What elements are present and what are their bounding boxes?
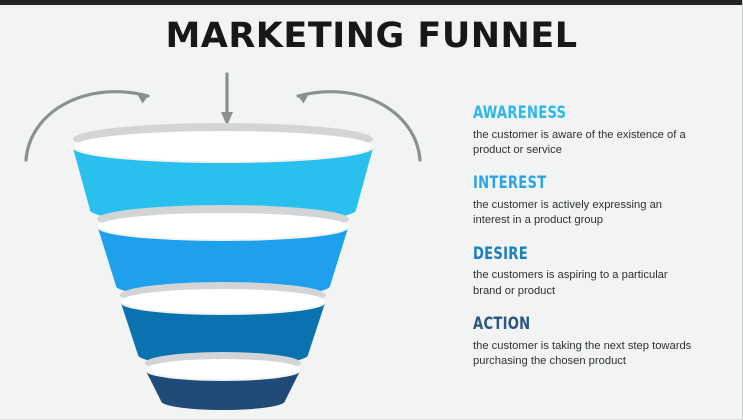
stage-title-action: ACTION [473, 315, 679, 335]
funnel-stage-list: AWARENESS the customer is aware of the e… [473, 104, 713, 370]
stage-description-desire: the customers is aspiring to a particula… [473, 268, 698, 299]
stage-item-desire[interactable]: DESIRE the customers is aspiring to a pa… [473, 245, 713, 299]
funnel-tier-desire-rim-highlight [121, 289, 325, 313]
funnel-tier-interest-rim-highlight [98, 213, 348, 239]
funnel-tier-action-rim-highlight [146, 359, 300, 379]
stage-description-awareness: the customer is aware of the existence o… [473, 128, 698, 159]
stage-description-action: the customer is taking the next step tow… [473, 339, 698, 370]
funnel-graphic [8, 62, 438, 412]
funnel-tier-action[interactable] [145, 352, 301, 410]
diagram-canvas: MARKETING FUNNEL [0, 0, 743, 420]
stage-description-interest: the customer is actively expressing an i… [473, 198, 698, 229]
stage-title-interest: INTEREST [473, 174, 679, 194]
straight-arrow-down-icon [221, 74, 233, 126]
stage-item-awareness[interactable]: AWARENESS the customer is aware of the e… [473, 104, 713, 158]
page-title: MARKETING FUNNEL [0, 16, 743, 56]
stage-title-awareness: AWARENESS [473, 104, 679, 124]
stage-item-action[interactable]: ACTION the customer is taking the next s… [473, 315, 713, 369]
stage-item-interest[interactable]: INTEREST the customer is actively expres… [473, 174, 713, 228]
stage-title-desire: DESIRE [473, 245, 679, 265]
funnel-tier-awareness-rim-highlight [74, 131, 372, 161]
top-edge-strip [0, 0, 743, 5]
